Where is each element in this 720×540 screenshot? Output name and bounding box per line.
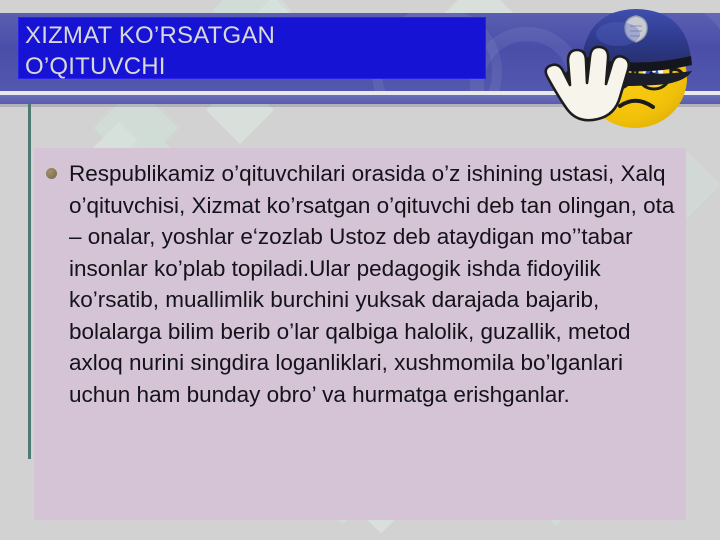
bullet-point-icon <box>46 168 57 179</box>
police-officer-stop-hand-icon <box>540 0 720 150</box>
slide-title-box: XIZMAT KO’RSATGAN O’QITUVCHI <box>18 17 486 79</box>
slide-title: XIZMAT KO’RSATGAN O’QITUVCHI <box>19 18 275 82</box>
vertical-accent-line <box>28 104 31 459</box>
slide-content-box: Respublikamiz o’qituvchilari orasida o’z… <box>34 148 686 520</box>
presentation-slide: XIZMAT KO’RSATGAN O’QITUVCHI Respublikam… <box>0 0 720 540</box>
slide-body-text: Respublikamiz o’qituvchilari orasida o’z… <box>69 158 676 410</box>
bullet-list-item: Respublikamiz o’qituvchilari orasida o’z… <box>38 158 676 410</box>
